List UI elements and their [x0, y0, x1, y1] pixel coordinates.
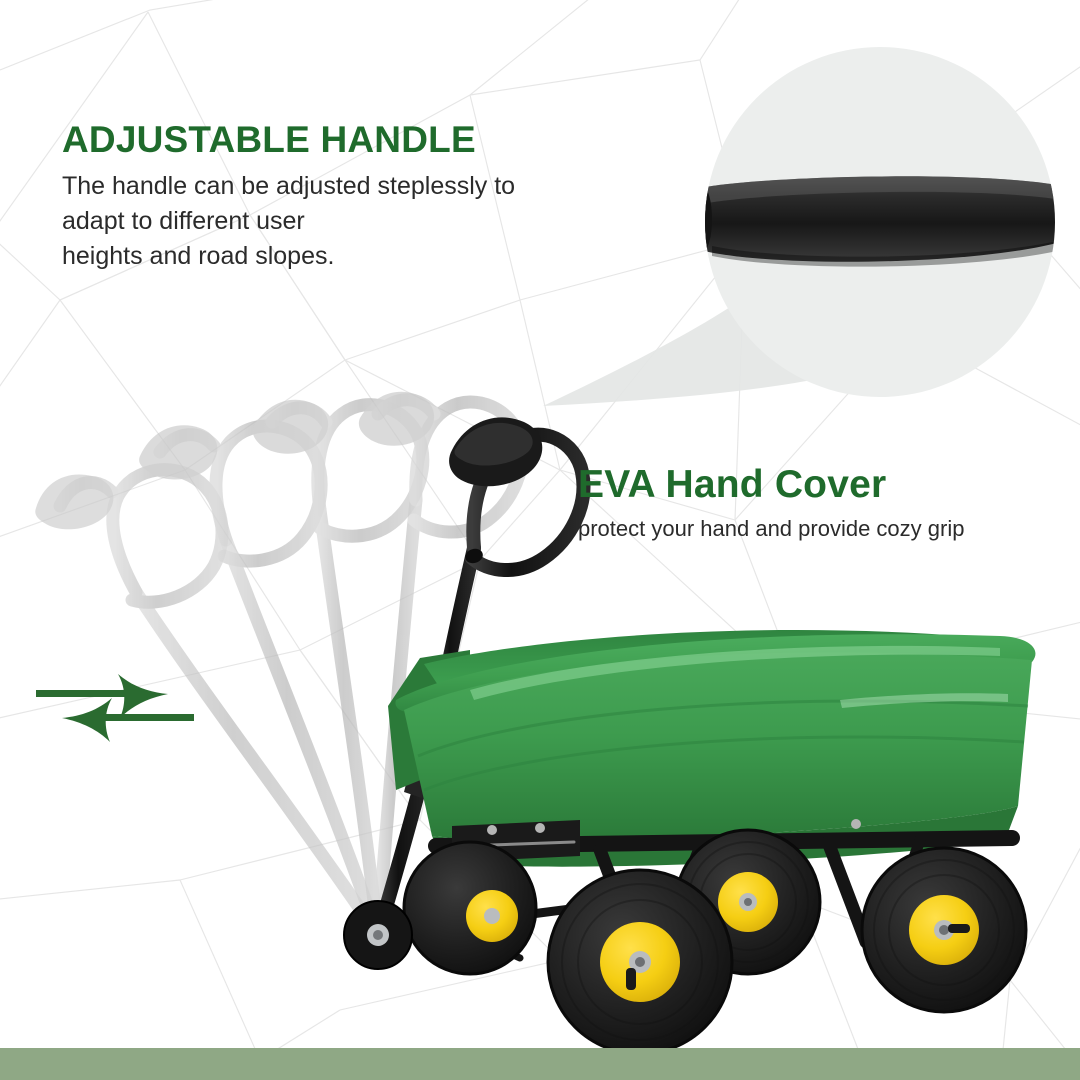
text-content-layer: ADJUSTABLE HANDLE The handle can be adju…: [0, 0, 1080, 1080]
feature-block-eva-hand-cover: EVA Hand Cover protect your hand and pro…: [578, 462, 964, 544]
adjustable-handle-description: The handle can be adjusted steplessly to…: [62, 169, 515, 274]
double-arrow-adjust-icon: [20, 660, 210, 750]
adjustable-handle-line-3: heights and road slopes.: [62, 239, 515, 274]
infographic-canvas: ADJUSTABLE HANDLE The handle can be adju…: [0, 0, 1080, 1080]
eva-hand-cover-line-1: protect your hand and provide cozy grip: [578, 514, 964, 544]
eva-hand-cover-description: protect your hand and provide cozy grip: [578, 514, 964, 544]
adjustable-handle-heading: ADJUSTABLE HANDLE: [62, 118, 515, 162]
adjustable-handle-line-2: adapt to different user: [62, 204, 515, 239]
eva-hand-cover-heading: EVA Hand Cover: [578, 462, 964, 508]
feature-block-adjustable-handle: ADJUSTABLE HANDLE The handle can be adju…: [62, 118, 515, 274]
adjustable-handle-line-1: The handle can be adjusted steplessly to: [62, 169, 515, 204]
footer-color-bar: [0, 1048, 1080, 1080]
